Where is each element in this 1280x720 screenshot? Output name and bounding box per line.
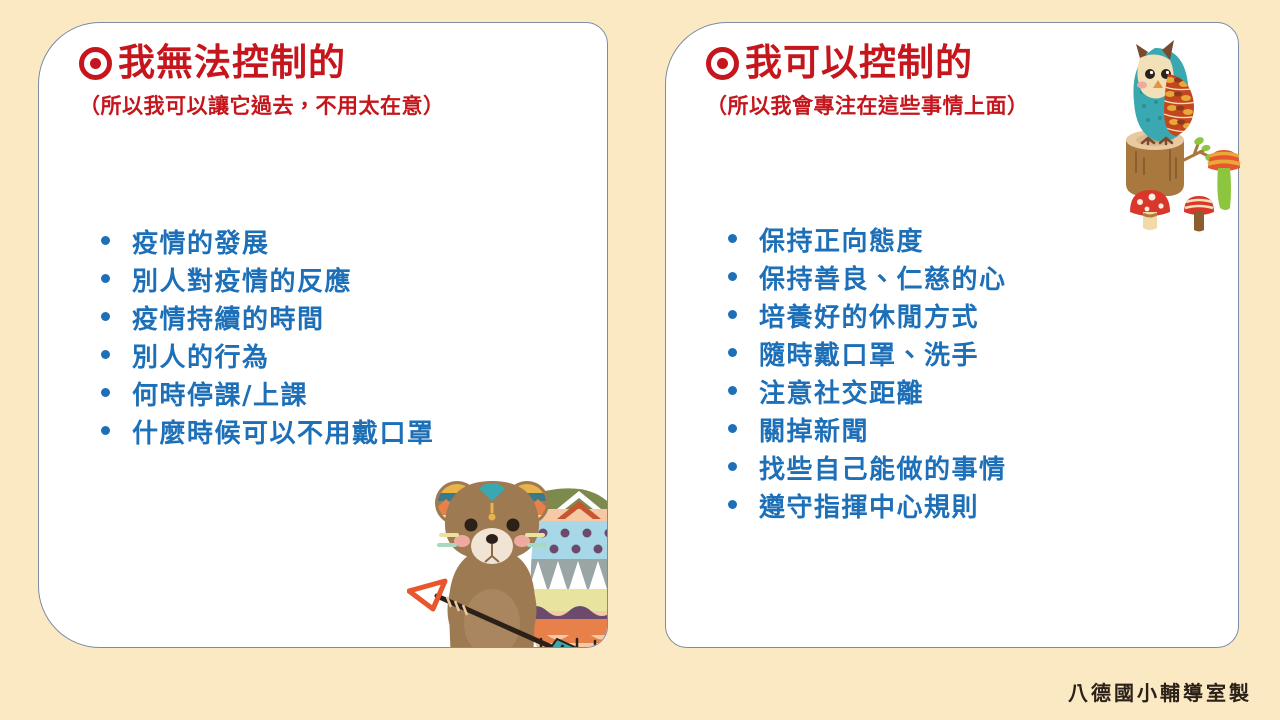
bullet-dot-icon — [101, 350, 110, 359]
list-item-label: 隨時戴口罩、洗手 — [759, 335, 979, 372]
list-item-label: 找些自己能做的事情 — [759, 449, 1007, 486]
list-item: 何時停課/上課 — [101, 375, 435, 413]
list-item: 什麼時候可以不用戴口罩 — [101, 413, 435, 451]
card-title: 我無法控制的 — [118, 43, 346, 84]
bullet-dot-icon — [101, 274, 110, 283]
list-item-label: 保持正向態度 — [759, 221, 924, 258]
list-item-label: 疫情的發展 — [132, 223, 270, 260]
list-item-label: 什麼時候可以不用戴口罩 — [132, 413, 435, 450]
list-item: 疫情持續的時間 — [101, 299, 435, 337]
bullet-dot-icon — [101, 426, 110, 435]
bullet-dot-icon — [101, 236, 110, 245]
bullseye-icon — [79, 47, 112, 80]
bullet-dot-icon — [728, 424, 737, 433]
bullet-dot-icon — [728, 348, 737, 357]
list-item-label: 培養好的休閒方式 — [759, 297, 979, 334]
tribal-bear-illustration — [407, 463, 608, 648]
list-item-label: 別人對疫情的反應 — [132, 261, 352, 298]
list-item: 關掉新聞 — [728, 411, 1007, 449]
list-item: 隨時戴口罩、洗手 — [728, 335, 1007, 373]
bullet-dot-icon — [728, 234, 737, 243]
list-item: 疫情的發展 — [101, 223, 435, 261]
bullet-dot-icon — [728, 386, 737, 395]
list-item: 注意社交距離 — [728, 373, 1007, 411]
bullet-dot-icon — [728, 272, 737, 281]
card-uncontrollable: 我無法控制的 （所以我可以讓它過去，不用太在意） 疫情的發展 別人對疫情的反應 … — [38, 22, 608, 648]
list-item-label: 遵守指揮中心規則 — [759, 487, 979, 524]
list-item: 遵守指揮中心規則 — [728, 487, 1007, 525]
list-item: 別人對疫情的反應 — [101, 261, 435, 299]
list-item: 培養好的休閒方式 — [728, 297, 1007, 335]
footer-credit: 八德國小輔導室製 — [1068, 677, 1252, 706]
list-item: 保持正向態度 — [728, 221, 1007, 259]
list-item-label: 疫情持續的時間 — [132, 299, 325, 336]
bullet-dot-icon — [728, 462, 737, 471]
list-item: 保持善良、仁慈的心 — [728, 259, 1007, 297]
controllable-list: 保持正向態度 保持善良、仁慈的心 培養好的休閒方式 隨時戴口罩、洗手 注意社交距… — [728, 221, 1007, 525]
card-title: 我可以控制的 — [745, 43, 973, 84]
bullet-dot-icon — [101, 312, 110, 321]
list-item-label: 保持善良、仁慈的心 — [759, 259, 1007, 296]
bullet-dot-icon — [728, 310, 737, 319]
list-item: 別人的行為 — [101, 337, 435, 375]
list-item-label: 關掉新聞 — [759, 411, 869, 448]
card-title-row: 我無法控制的 — [79, 43, 579, 84]
card-heading: 我無法控制的 （所以我可以讓它過去，不用太在意） — [79, 43, 579, 120]
bullseye-icon — [706, 47, 739, 80]
bullet-dot-icon — [728, 500, 737, 509]
list-item: 找些自己能做的事情 — [728, 449, 1007, 487]
uncontrollable-list: 疫情的發展 別人對疫情的反應 疫情持續的時間 別人的行為 何時停課/上課 什麼時… — [101, 223, 435, 451]
list-item-label: 注意社交距離 — [759, 373, 924, 410]
card-subtitle: （所以我可以讓它過去，不用太在意） — [79, 90, 579, 120]
bullet-dot-icon — [101, 388, 110, 397]
list-item-label: 何時停課/上課 — [132, 375, 308, 412]
list-item-label: 別人的行為 — [132, 337, 270, 374]
owl-illustration — [1108, 22, 1248, 232]
slide-canvas: 我無法控制的 （所以我可以讓它過去，不用太在意） 疫情的發展 別人對疫情的反應 … — [0, 0, 1280, 720]
